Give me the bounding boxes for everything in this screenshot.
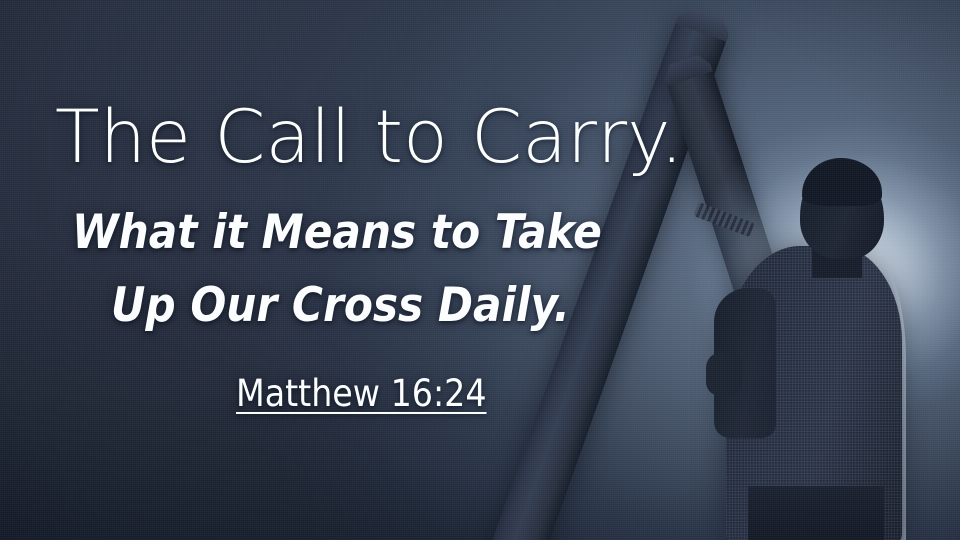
text-block: The Call to Carry. What it Means to Take… xyxy=(0,0,720,540)
slide-subtitle-line-1: What it Means to Take xyxy=(72,209,602,256)
sermon-title-slide: The Call to Carry. What it Means to Take… xyxy=(0,0,960,540)
slide-title: The Call to Carry. xyxy=(55,101,683,174)
slide-subtitle-line-2: Up Our Cross Daily. xyxy=(111,282,570,329)
figure-legs xyxy=(748,486,884,540)
figure-hair xyxy=(802,158,882,206)
scripture-reference: Matthew 16:24 xyxy=(236,375,487,412)
